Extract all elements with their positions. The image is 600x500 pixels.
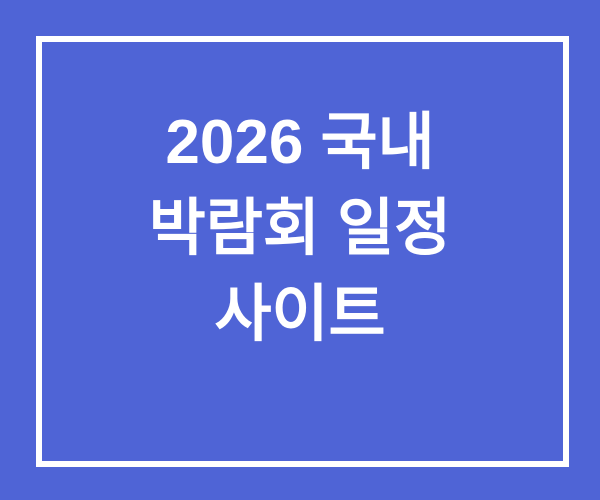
headline-line-1: 2026 국내 [165,100,434,186]
banner-canvas: 2026 국내 박람회 일정 사이트 [0,0,600,500]
headline-block: 2026 국내 박람회 일정 사이트 [0,0,600,500]
headline-line-3: 사이트 [214,272,385,358]
headline-line-2: 박람회 일정 [149,186,451,272]
